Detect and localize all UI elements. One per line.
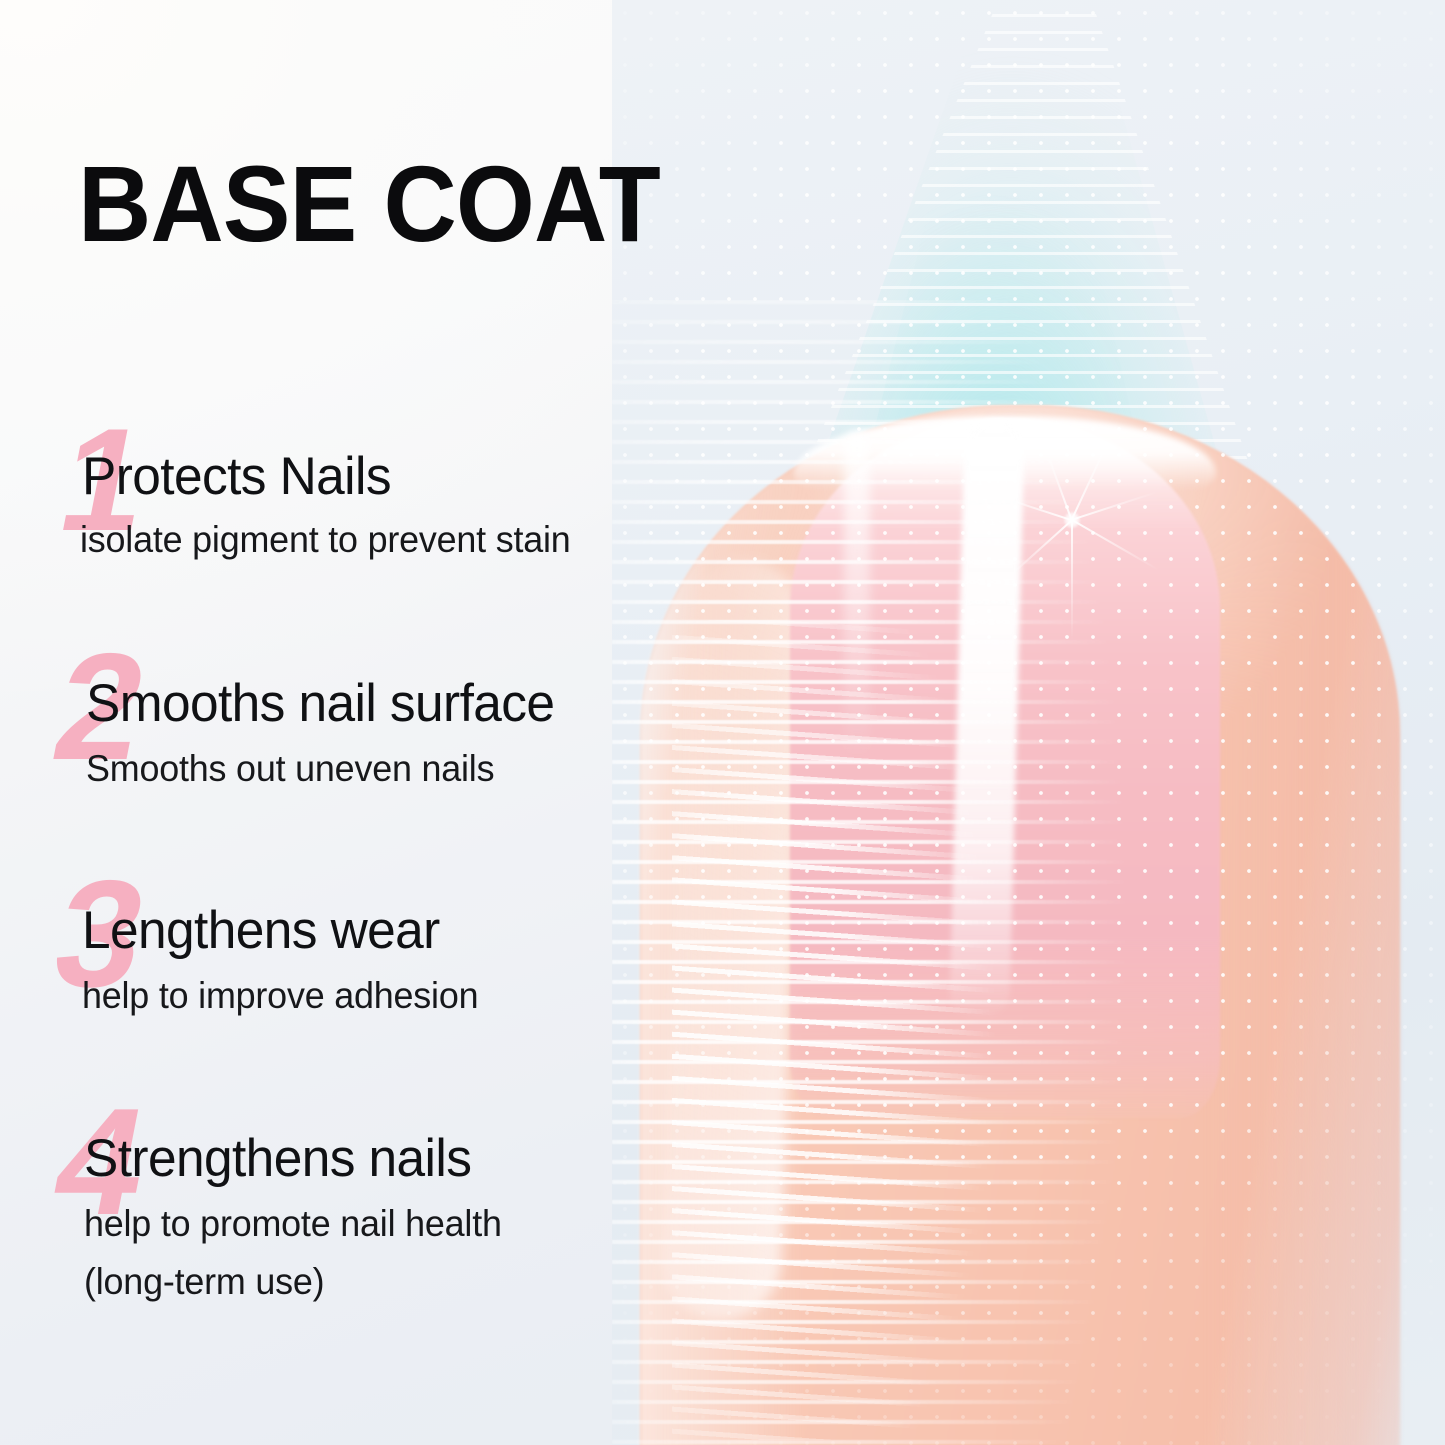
benefit-subtext-4-line2: (long-term use) [84,1258,324,1305]
benefit-heading-1: Protects Nails [82,450,391,504]
benefit-subtext-4: help to promote nail health [84,1200,502,1247]
benefit-heading-2: Smooths nail surface [86,677,554,731]
halftone-dot-texture [612,0,1445,1445]
benefit-heading-3: Lengthens wear [82,904,440,958]
benefit-subtext-1: isolate pigment to prevent stain [80,516,571,563]
benefit-subtext-3: help to improve adhesion [82,972,478,1019]
infographic-canvas: BASE COAT 1 Protects Nails isolate pigme… [0,0,1445,1445]
nail-photo [612,0,1445,1445]
benefit-subtext-2: Smooths out uneven nails [86,745,494,792]
page-title: BASE COAT [78,150,660,258]
benefit-heading-4: Strengthens nails [84,1132,471,1186]
